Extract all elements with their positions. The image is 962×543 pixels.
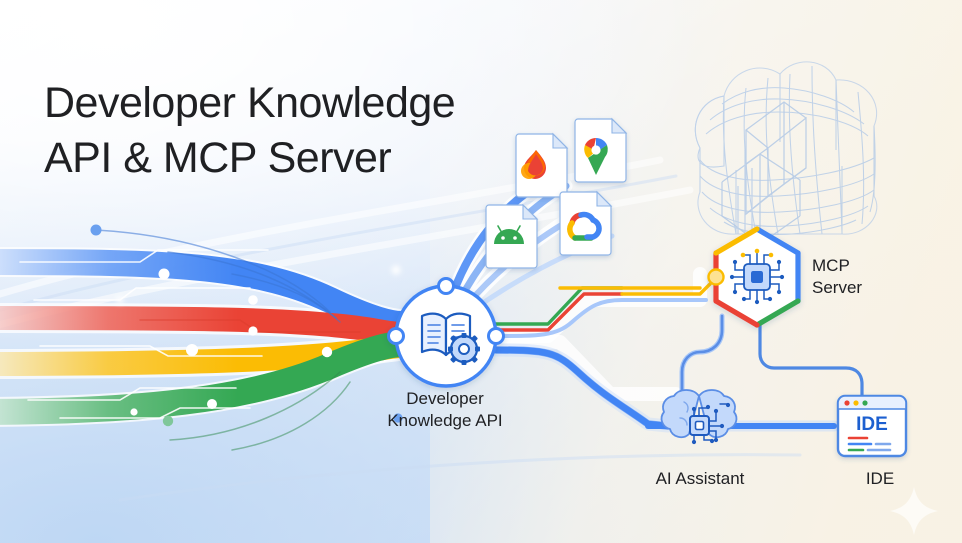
page-title: Developer Knowledge API & MCP Server: [44, 76, 455, 185]
ide-screen-text: IDE: [856, 414, 888, 435]
ide-label: IDE: [820, 468, 940, 490]
mcp-connector-dot: [709, 270, 724, 285]
doc-google-maps[interactable]: [575, 119, 626, 182]
ide-node[interactable]: IDE: [838, 396, 906, 456]
mcp-server-node[interactable]: [709, 229, 799, 325]
api-connector-dot-right: [489, 329, 504, 344]
ai-assistant-node[interactable]: [662, 390, 737, 444]
brain-circuit-icon: [662, 390, 737, 444]
doc-google-cloud[interactable]: [560, 192, 611, 255]
api-connector-dot-left: [389, 329, 404, 344]
doc-firebase[interactable]: [516, 134, 567, 197]
illustration-canvas: IDE Developer Knowledge API & MCP Server…: [0, 0, 962, 543]
developer-knowledge-api-label: Developer Knowledge API: [345, 388, 545, 432]
developer-knowledge-api-node[interactable]: [389, 279, 504, 387]
ai-assistant-label: AI Assistant: [620, 468, 780, 490]
doc-android[interactable]: [486, 205, 537, 268]
api-connector-dot-top: [439, 279, 454, 294]
window-traffic-dots: [844, 400, 867, 405]
cloud-wireframe-icon: [695, 62, 877, 244]
mcp-server-label: MCP Server: [812, 255, 942, 299]
sparkle-icon: [890, 487, 938, 535]
